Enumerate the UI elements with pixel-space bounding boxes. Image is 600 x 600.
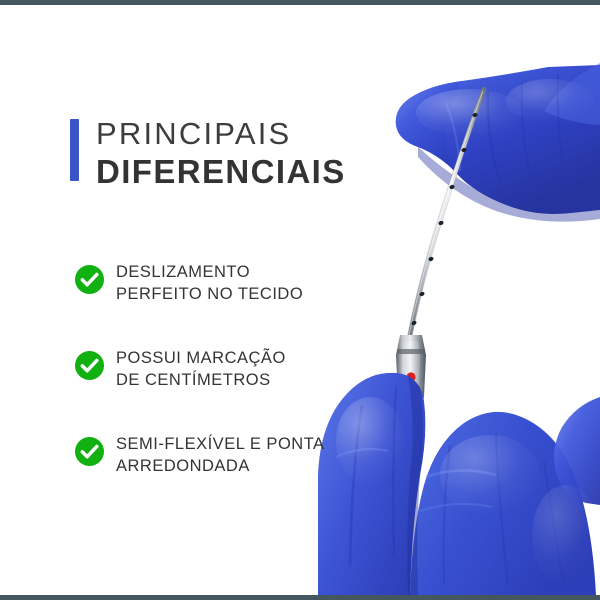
accent-bar [70,119,79,181]
feature-label: DESLIZAMENTO PERFEITO NO TECIDO [116,262,303,306]
feature-list: DESLIZAMENTO PERFEITO NO TECIDO POSSUI M… [74,262,325,478]
check-circle-icon [74,436,105,467]
top-edge-rule [0,0,600,5]
check-circle-icon [74,350,105,381]
feature-label: POSSUI MARCAÇÃO DE CENTÍMETROS [116,348,286,392]
bottom-edge-rule [0,595,600,600]
check-circle-icon [74,264,105,295]
list-item: DESLIZAMENTO PERFEITO NO TECIDO [74,262,325,306]
page-title-line-1: PRINCIPAIS [96,116,346,153]
feature-label: SEMI-FLEXÍVEL E PONTA ARREDONDADA [116,434,325,478]
promo-slide: PRINCIPAIS DIFERENCIAIS DESLIZAMENTO PER… [0,0,600,600]
list-item: POSSUI MARCAÇÃO DE CENTÍMETROS [74,348,325,392]
product-photo [300,5,600,595]
list-item: SEMI-FLEXÍVEL E PONTA ARREDONDADA [74,434,325,478]
page-title-line-2: DIFERENCIAIS [96,153,346,192]
heading-block: PRINCIPAIS DIFERENCIAIS [70,116,346,192]
